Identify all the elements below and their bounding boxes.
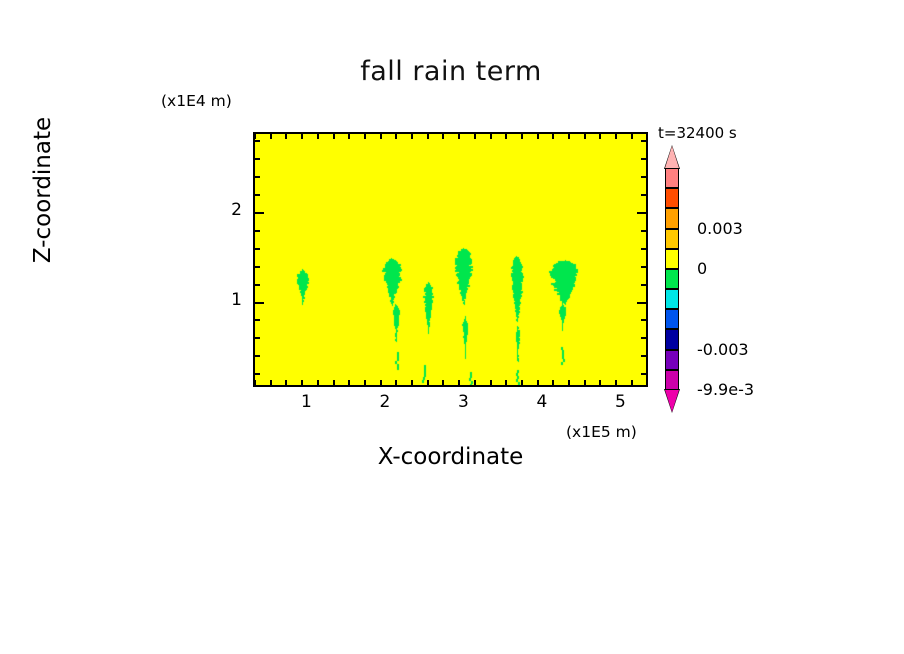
x-tick — [411, 380, 413, 385]
colorbar-band — [665, 188, 679, 208]
x-tick-label: 1 — [286, 392, 326, 412]
figure-canvas: fall rain term (x1E4 m) (x1E5 m) t=32400… — [0, 0, 904, 654]
y-tick — [255, 355, 260, 357]
x-tick-top — [615, 134, 617, 139]
y-tick-right — [641, 373, 646, 375]
colorbar-band — [665, 168, 679, 188]
x-tick — [427, 380, 429, 385]
x-tick-top — [599, 134, 601, 139]
x-tick — [505, 380, 507, 385]
colorbar-band — [665, 289, 679, 309]
y-tick-label: 1 — [202, 290, 242, 310]
x-tick — [584, 380, 586, 385]
y-tick — [255, 337, 260, 339]
y-tick-right — [641, 176, 646, 178]
y-tick — [255, 302, 264, 304]
x-tick-top — [348, 134, 350, 139]
x-tick — [348, 380, 350, 385]
x-tick — [552, 380, 554, 385]
x-tick — [254, 380, 256, 385]
x-tick — [490, 380, 492, 385]
x-tick — [333, 380, 335, 385]
x-tick-top — [427, 134, 429, 139]
x-tick-top — [631, 134, 633, 139]
x-tick-top — [285, 134, 287, 139]
x-tick — [599, 380, 601, 385]
y-tick-right — [641, 194, 646, 196]
x-tick-top — [301, 134, 303, 139]
x-tick-top — [270, 134, 272, 139]
y-tick-right — [641, 230, 646, 232]
y-axis-title: Z-coordinate — [30, 75, 60, 305]
x-tick — [395, 380, 397, 385]
colorbar-band — [665, 309, 679, 329]
x-tick — [631, 380, 633, 385]
y-tick-right — [637, 212, 646, 214]
x-tick — [270, 380, 272, 385]
colorbar — [665, 168, 679, 390]
x-tick-top — [411, 134, 413, 139]
y-tick — [255, 319, 260, 321]
y-tick — [255, 158, 260, 160]
x-tick-top — [537, 134, 539, 139]
x-tick — [317, 380, 319, 385]
y-axis-unit-label: (x1E4 m) — [161, 92, 232, 110]
colorbar-arrow-bottom-icon — [665, 390, 679, 412]
colorbar-band — [665, 370, 679, 390]
x-tick — [474, 380, 476, 385]
colorbar-band — [665, 269, 679, 289]
y-tick-right — [641, 284, 646, 286]
x-tick-top — [380, 134, 382, 139]
x-tick — [458, 380, 460, 385]
y-tick-right — [641, 355, 646, 357]
y-tick — [255, 194, 260, 196]
x-tick-top — [568, 134, 570, 139]
colorbar-tick-label: 0.003 — [697, 219, 743, 238]
colorbar-tick-label: 0 — [697, 259, 707, 278]
y-tick-right — [641, 158, 646, 160]
x-tick — [301, 380, 303, 385]
x-tick — [285, 380, 287, 385]
x-tick-top — [364, 134, 366, 139]
x-tick — [568, 380, 570, 385]
y-tick-right — [641, 337, 646, 339]
x-tick-label: 3 — [443, 392, 483, 412]
y-tick-label: 2 — [202, 200, 242, 220]
x-tick-top — [490, 134, 492, 139]
y-tick-right — [641, 266, 646, 268]
y-tick — [255, 230, 260, 232]
x-tick-top — [333, 134, 335, 139]
colorbar-band — [665, 350, 679, 370]
timestamp-label: t=32400 s — [658, 124, 737, 142]
colorbar-tick-label: -0.003 — [697, 340, 749, 359]
x-tick-top — [521, 134, 523, 139]
y-tick — [255, 176, 260, 178]
plot-area — [253, 132, 648, 387]
x-tick — [521, 380, 523, 385]
x-tick-top — [552, 134, 554, 139]
colorbar-tick-label: -9.9e-3 — [697, 380, 754, 399]
y-tick — [255, 248, 260, 250]
x-tick-top — [505, 134, 507, 139]
x-tick-top — [458, 134, 460, 139]
x-tick — [364, 380, 366, 385]
x-tick — [380, 380, 382, 385]
page-title: fall rain term — [253, 56, 649, 87]
x-tick-label: 4 — [522, 392, 562, 412]
y-tick-right — [641, 319, 646, 321]
y-tick-right — [637, 302, 646, 304]
y-tick-right — [641, 248, 646, 250]
x-axis-title: X-coordinate — [253, 444, 648, 470]
x-tick — [442, 380, 444, 385]
y-tick — [255, 284, 260, 286]
x-axis-unit-label: (x1E5 m) — [566, 423, 637, 441]
x-tick-top — [584, 134, 586, 139]
x-tick-top — [317, 134, 319, 139]
y-tick-right — [641, 140, 646, 142]
x-tick-top — [474, 134, 476, 139]
colorbar-arrow-top-icon — [665, 146, 679, 168]
y-tick — [255, 373, 260, 375]
y-tick — [255, 212, 264, 214]
contour-field — [255, 134, 646, 385]
x-tick — [615, 380, 617, 385]
x-tick — [537, 380, 539, 385]
colorbar-band — [665, 208, 679, 228]
x-tick-top — [395, 134, 397, 139]
colorbar-band — [665, 249, 679, 269]
y-tick — [255, 140, 260, 142]
y-tick — [255, 266, 260, 268]
x-tick-top — [254, 134, 256, 139]
colorbar-band — [665, 229, 679, 249]
x-tick-top — [442, 134, 444, 139]
x-tick-label: 5 — [600, 392, 640, 412]
x-tick-label: 2 — [365, 392, 405, 412]
colorbar-band — [665, 329, 679, 349]
